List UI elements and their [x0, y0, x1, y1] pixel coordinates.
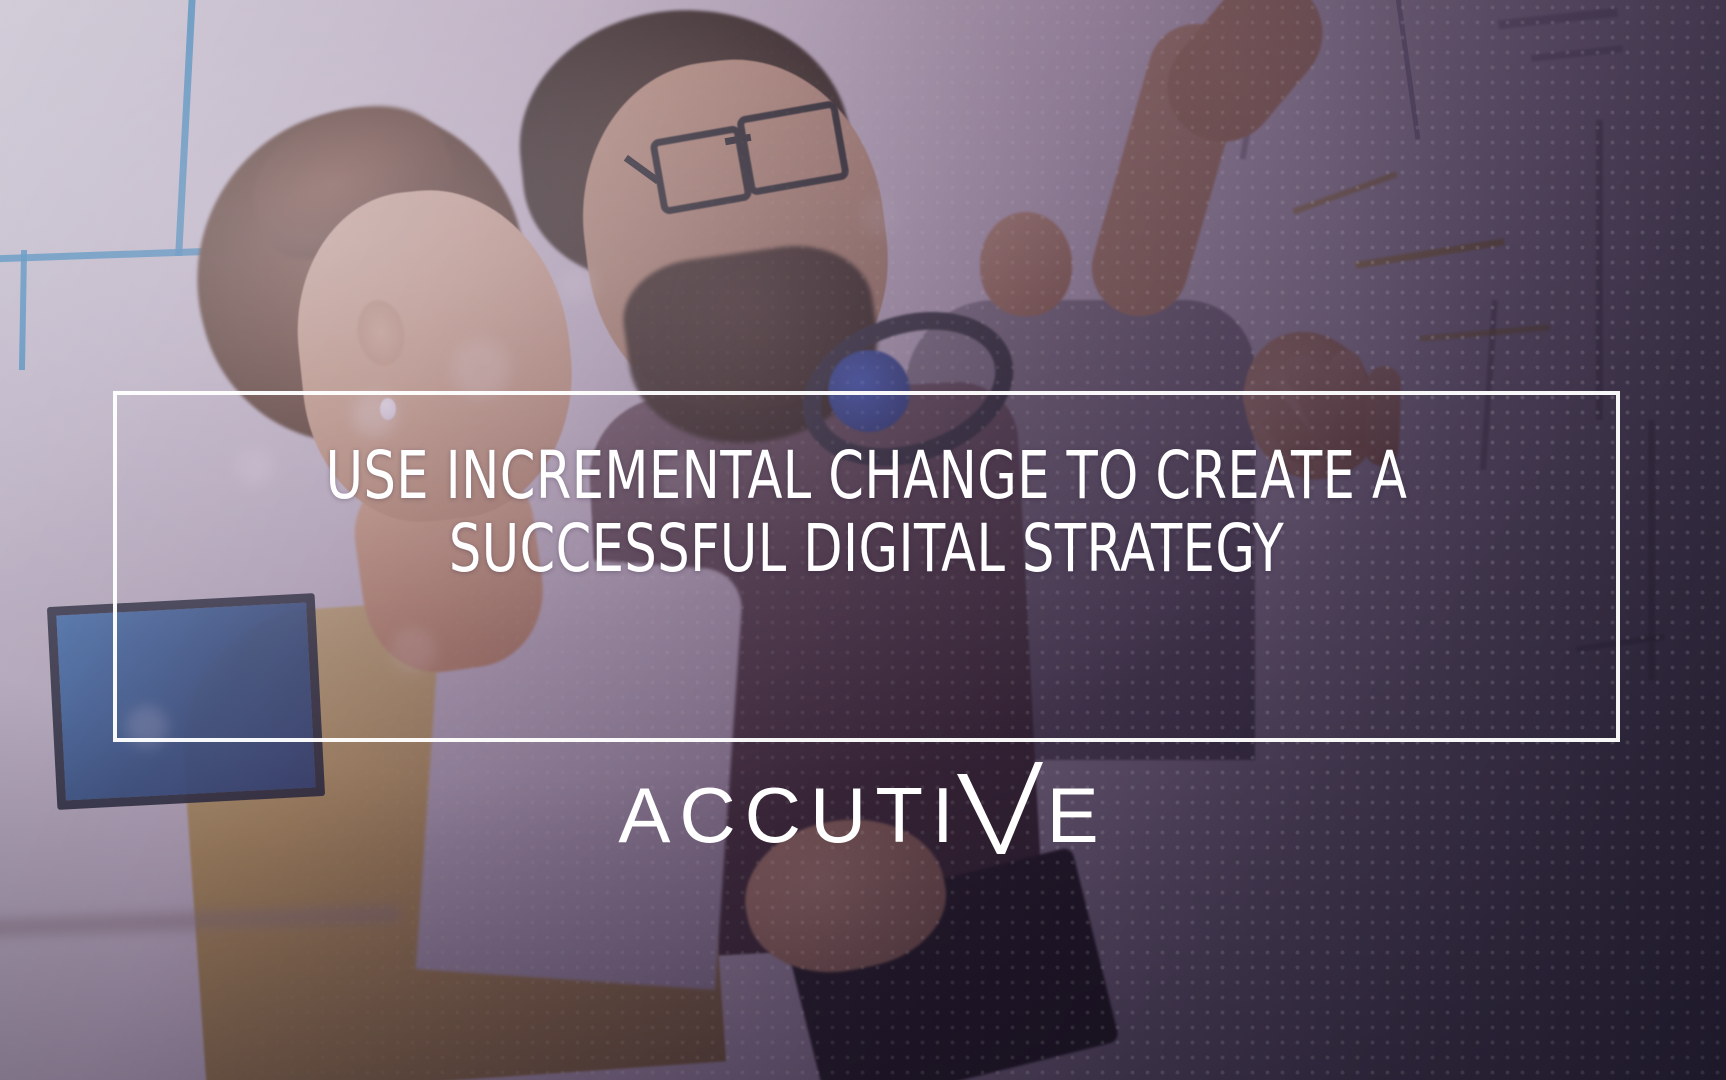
page-title: USE INCREMENTAL CHANGE TO CREATE A SUCCE… [218, 440, 1514, 585]
logo-wordmark-lead: ACCUTI [618, 776, 962, 854]
stylized-v-chevron-icon [957, 762, 1043, 854]
accutive-logo[interactable]: ACCUTI E [0, 762, 1726, 854]
banner-image: USE INCREMENTAL CHANGE TO CREATE A SUCCE… [0, 0, 1726, 1080]
logo-wordmark-tail: E [1047, 776, 1108, 854]
